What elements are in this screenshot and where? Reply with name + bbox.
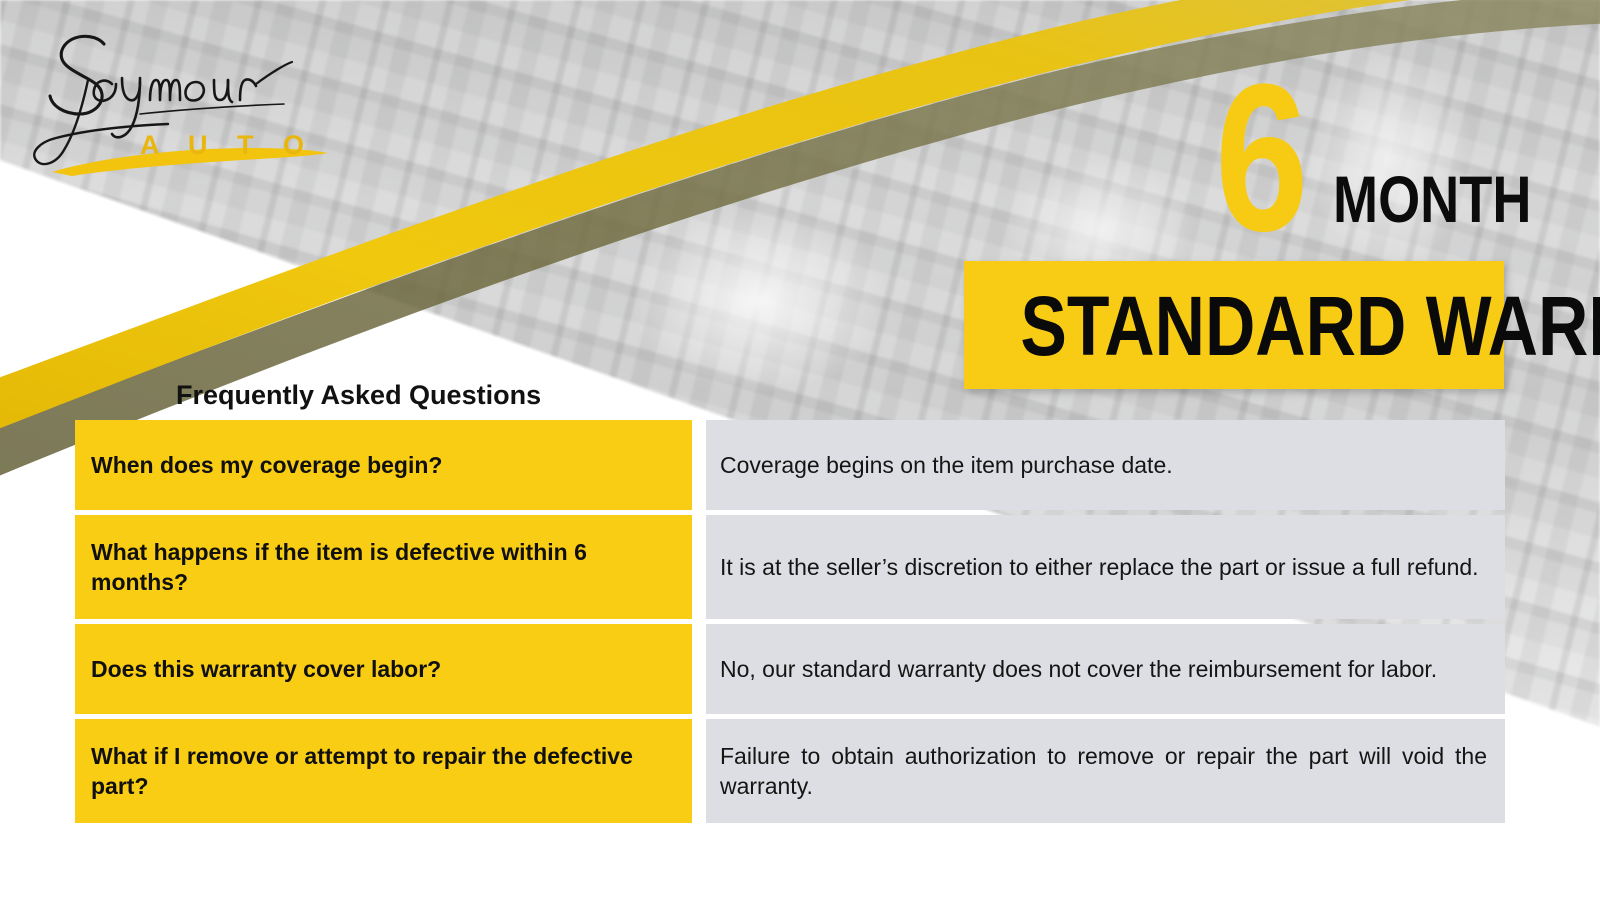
faq-question-cell: What if I remove or attempt to repair th… <box>75 719 692 823</box>
faq-question-cell: What happens if the item is defective wi… <box>75 515 692 619</box>
table-row: When does my coverage begin? Coverage be… <box>75 420 1505 510</box>
table-row: Does this warranty cover labor? No, our … <box>75 624 1505 714</box>
seymour-auto-logo: A U T O <box>28 22 338 177</box>
table-row: What happens if the item is defective wi… <box>75 515 1505 619</box>
faq-answer-cell: It is at the seller’s discretion to eith… <box>706 515 1505 619</box>
faq-title: Frequently Asked Questions <box>176 380 541 411</box>
standard-warranty-banner: STANDARD WARRANTY <box>964 261 1504 389</box>
warranty-slide: A U T O 6 MONTH STANDARD WARRANTY Freque… <box>0 0 1600 900</box>
faq-answer-cell: Coverage begins on the item purchase dat… <box>706 420 1505 510</box>
standard-warranty-label: STANDARD WARRANTY <box>1020 284 1472 368</box>
warranty-duration-unit: MONTH <box>1333 166 1531 232</box>
faq-question-cell: Does this warranty cover labor? <box>75 624 692 714</box>
faq-table: When does my coverage begin? Coverage be… <box>75 420 1505 823</box>
logo-auto-text: A U T O <box>140 130 315 161</box>
faq-question-cell: When does my coverage begin? <box>75 420 692 510</box>
faq-answer-cell: Failure to obtain authorization to remov… <box>706 719 1505 823</box>
table-row: What if I remove or attempt to repair th… <box>75 719 1505 823</box>
warranty-duration-number: 6 <box>1215 68 1305 248</box>
faq-answer-cell: No, our standard warranty does not cover… <box>706 624 1505 714</box>
